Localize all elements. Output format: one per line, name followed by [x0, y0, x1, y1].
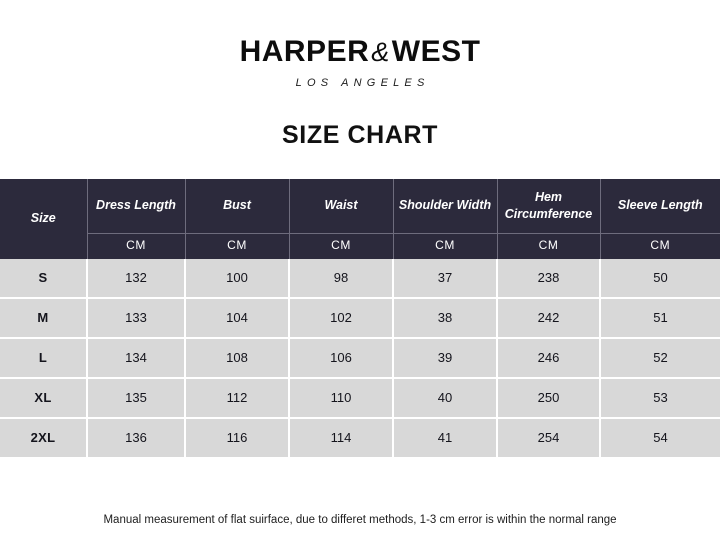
column-unit-shoulder-width: CM [393, 233, 497, 259]
column-unit-waist: CM [289, 233, 393, 259]
cell-size: L [0, 338, 87, 378]
cell-sleeve-length: 54 [600, 418, 720, 457]
page-title: SIZE CHART [0, 121, 720, 150]
table-row: M 133 104 102 38 242 51 [0, 298, 720, 338]
cell-dress-length: 133 [87, 298, 185, 338]
cell-bust: 116 [185, 418, 289, 457]
table-row: L 134 108 106 39 246 52 [0, 338, 720, 378]
cell-sleeve-length: 53 [600, 378, 720, 418]
cell-size: XL [0, 378, 87, 418]
cell-sleeve-length: 51 [600, 298, 720, 338]
table-row: S 132 100 98 37 238 50 [0, 259, 720, 298]
column-unit-sleeve-length: CM [600, 233, 720, 259]
brand-tagline: LOS ANGELES [0, 77, 720, 89]
cell-hem-circumference: 254 [497, 418, 600, 457]
cell-dress-length: 136 [87, 418, 185, 457]
table-header-unit-row: CM CM CM CM CM CM [0, 233, 720, 259]
brand-logo-text: HARPER&WEST [0, 36, 720, 68]
cell-hem-circumference: 250 [497, 378, 600, 418]
measurement-disclaimer: Manual measurement of flat suirface, due… [0, 514, 720, 526]
cell-shoulder-width: 41 [393, 418, 497, 457]
size-chart-table: Size Dress Length Bust Waist Shoulder Wi… [0, 179, 720, 457]
cell-dress-length: 135 [87, 378, 185, 418]
column-unit-dress-length: CM [87, 233, 185, 259]
table-header: Size Dress Length Bust Waist Shoulder Wi… [0, 179, 720, 259]
table-row: 2XL 136 116 114 41 254 54 [0, 418, 720, 457]
column-header-shoulder-width: Shoulder Width [393, 179, 497, 234]
cell-bust: 104 [185, 298, 289, 338]
cell-waist: 114 [289, 418, 393, 457]
column-unit-hem-circumference: CM [497, 233, 600, 259]
cell-waist: 98 [289, 259, 393, 298]
cell-shoulder-width: 38 [393, 298, 497, 338]
cell-dress-length: 134 [87, 338, 185, 378]
column-header-waist: Waist [289, 179, 393, 234]
cell-dress-length: 132 [87, 259, 185, 298]
cell-shoulder-width: 39 [393, 338, 497, 378]
cell-bust: 108 [185, 338, 289, 378]
column-header-sleeve-length: Sleeve Length [600, 179, 720, 234]
cell-bust: 100 [185, 259, 289, 298]
cell-sleeve-length: 52 [600, 338, 720, 378]
size-chart-table-container: Size Dress Length Bust Waist Shoulder Wi… [0, 179, 720, 457]
column-header-size: Size [0, 179, 87, 259]
column-unit-bust: CM [185, 233, 289, 259]
table-header-label-row: Size Dress Length Bust Waist Shoulder Wi… [0, 179, 720, 234]
column-header-dress-length: Dress Length [87, 179, 185, 234]
cell-size: S [0, 259, 87, 298]
column-header-bust: Bust [185, 179, 289, 234]
brand-header: HARPER&WEST LOS ANGELES [0, 0, 720, 89]
cell-hem-circumference: 238 [497, 259, 600, 298]
cell-waist: 110 [289, 378, 393, 418]
table-body: S 132 100 98 37 238 50 M 133 104 102 38 … [0, 259, 720, 457]
cell-hem-circumference: 242 [497, 298, 600, 338]
cell-shoulder-width: 37 [393, 259, 497, 298]
brand-name-part1: HARPER [240, 35, 370, 68]
cell-waist: 102 [289, 298, 393, 338]
cell-size: M [0, 298, 87, 338]
brand-ampersand: & [369, 37, 392, 67]
table-row: XL 135 112 110 40 250 53 [0, 378, 720, 418]
cell-shoulder-width: 40 [393, 378, 497, 418]
brand-name-part2: WEST [392, 35, 481, 68]
column-header-hem-circumference: Hem Circumference [497, 179, 600, 234]
cell-size: 2XL [0, 418, 87, 457]
cell-bust: 112 [185, 378, 289, 418]
cell-waist: 106 [289, 338, 393, 378]
cell-sleeve-length: 50 [600, 259, 720, 298]
cell-hem-circumference: 246 [497, 338, 600, 378]
